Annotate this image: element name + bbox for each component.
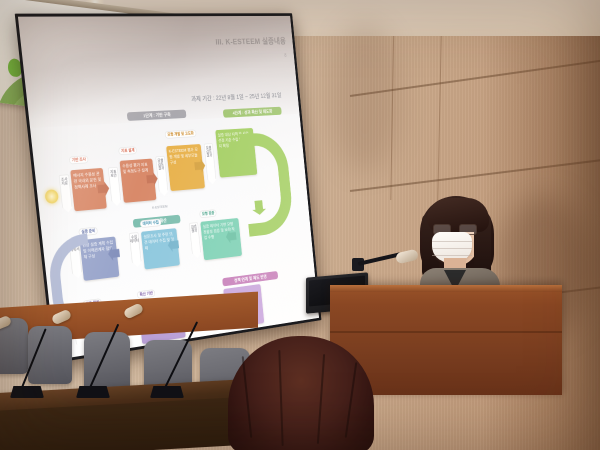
mask-fold-1	[432, 241, 472, 242]
screen-wall-shadow	[330, 22, 400, 172]
row2-card-1: 설문조사 및 주민 의견 데이터 수집 및 정제	[141, 228, 180, 269]
screen-glare	[18, 16, 300, 128]
hair-strand-3	[317, 354, 325, 444]
slide-footer-mark: K-ESTEEM	[152, 205, 168, 210]
row2-tag-2: 모형 검증	[199, 209, 217, 218]
u-turn-right-arrow	[239, 131, 294, 236]
conference-photo-scene: 국민수용성 제고를 위한 에너지 일시 2022. 12. 5.(월) 15:0…	[0, 0, 600, 450]
podium-mic-arm	[358, 252, 402, 266]
podium-panel-line	[330, 331, 562, 333]
row1-chip-2: 모형 검토 결과	[155, 156, 168, 192]
hair-strand-2	[278, 350, 283, 446]
table-microphone-2	[58, 308, 128, 404]
lightbulb-start-icon	[44, 189, 58, 204]
row2-tag-1: 데이터 수집	[140, 218, 162, 228]
table-microphone-3	[128, 300, 208, 406]
hair-strand-4	[345, 362, 358, 438]
mic-base-2	[76, 386, 110, 398]
mask-fold-3	[432, 255, 472, 256]
row1-tag-2: 모형 개발 및 고도화	[165, 129, 197, 139]
podium-top-edge	[330, 285, 562, 292]
mic-stem-3	[162, 321, 198, 392]
row1-chip-1: 지표 초안	[108, 167, 121, 202]
mic-stem-1	[20, 328, 47, 390]
podium-mic-head	[395, 249, 419, 265]
row2-chip-2: 검증 결과	[189, 222, 201, 254]
mask-fold-2	[432, 248, 472, 249]
table-microphone-1	[0, 318, 56, 402]
hair-strand-1	[242, 356, 253, 438]
mic-base-3	[150, 386, 184, 398]
mic-stem-2	[88, 324, 119, 391]
row1-chip-3: 모형 검토 결과	[204, 143, 216, 180]
mic-head-1	[0, 315, 12, 331]
podium-microphone	[352, 250, 424, 276]
row2-chip-1: 수집 데이터	[129, 232, 142, 263]
row1-tag-1: 지표 설계	[118, 146, 137, 155]
row1-tag-0: 기반 조사	[69, 155, 89, 165]
phase-band-4: 정책 연계 및 제도 반영	[222, 271, 278, 287]
mic-base-1	[10, 386, 44, 398]
